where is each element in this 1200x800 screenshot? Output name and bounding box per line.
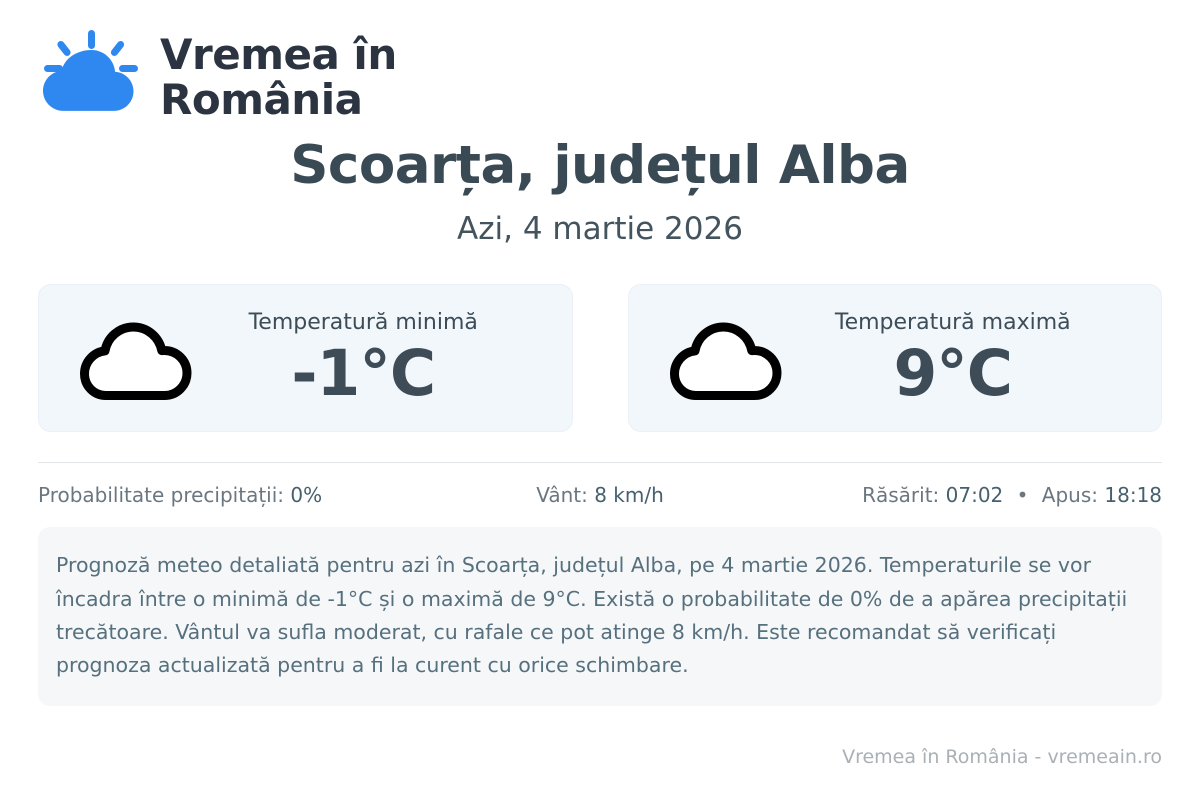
title-block: Scoarța, județul Alba Azi, 4 martie 2026 — [38, 137, 1162, 246]
max-temperature-label: Temperatură maximă — [789, 310, 1118, 336]
weather-page: Vremea în România Scoarța, județul Alba … — [0, 0, 1200, 800]
weather-info-row: Probabilitate precipitații: 0% Vânt: 8 k… — [38, 463, 1162, 527]
min-temperature-card: Temperatură minimă -1°C — [38, 284, 573, 432]
forecast-description-text: Prognoză meteo detaliată pentru azi în S… — [56, 549, 1144, 682]
sunset-value: 18:18 — [1104, 483, 1162, 507]
wind-label: Vânt: — [536, 483, 588, 507]
sunrise-value: 07:02 — [946, 483, 1004, 507]
max-temperature-card: Temperatură maximă 9°C — [628, 284, 1163, 432]
min-temperature-value: -1°C — [199, 341, 528, 407]
min-temperature-label: Temperatură minimă — [199, 310, 528, 336]
cloud-icon — [667, 312, 789, 404]
wind-info: Vânt: 8 km/h — [413, 483, 788, 507]
site-logo[interactable]: Vremea în România — [38, 0, 1162, 105]
min-temperature-body: Temperatură minimă -1°C — [199, 310, 562, 407]
forecast-description-panel: Prognoză meteo detaliată pentru azi în S… — [38, 527, 1162, 706]
sun-times-info: Răsărit: 07:02 • Apus: 18:18 — [787, 483, 1162, 507]
footer-credit: Vremea în România - vremeain.ro — [842, 746, 1162, 768]
max-temperature-value: 9°C — [789, 341, 1118, 407]
precipitation-label: Probabilitate precipitații: — [38, 483, 284, 507]
site-logo-text: Vremea în România — [160, 33, 397, 123]
temperature-cards: Temperatură minimă -1°C Temperatură maxi… — [38, 284, 1162, 432]
max-temperature-body: Temperatură maximă 9°C — [789, 310, 1152, 407]
precipitation-value: 0% — [290, 483, 322, 507]
page-title: Scoarța, județul Alba — [38, 137, 1162, 195]
wind-value: 8 km/h — [594, 483, 664, 507]
sunrise-label: Răsărit: — [862, 483, 939, 507]
cloud-icon — [77, 312, 199, 404]
precipitation-info: Probabilitate precipitații: 0% — [38, 483, 413, 507]
sunset-label: Apus: — [1042, 483, 1098, 507]
sun-behind-cloud-icon — [38, 28, 142, 128]
page-subtitle: Azi, 4 martie 2026 — [38, 212, 1162, 246]
bullet-separator-icon: • — [1010, 483, 1036, 507]
